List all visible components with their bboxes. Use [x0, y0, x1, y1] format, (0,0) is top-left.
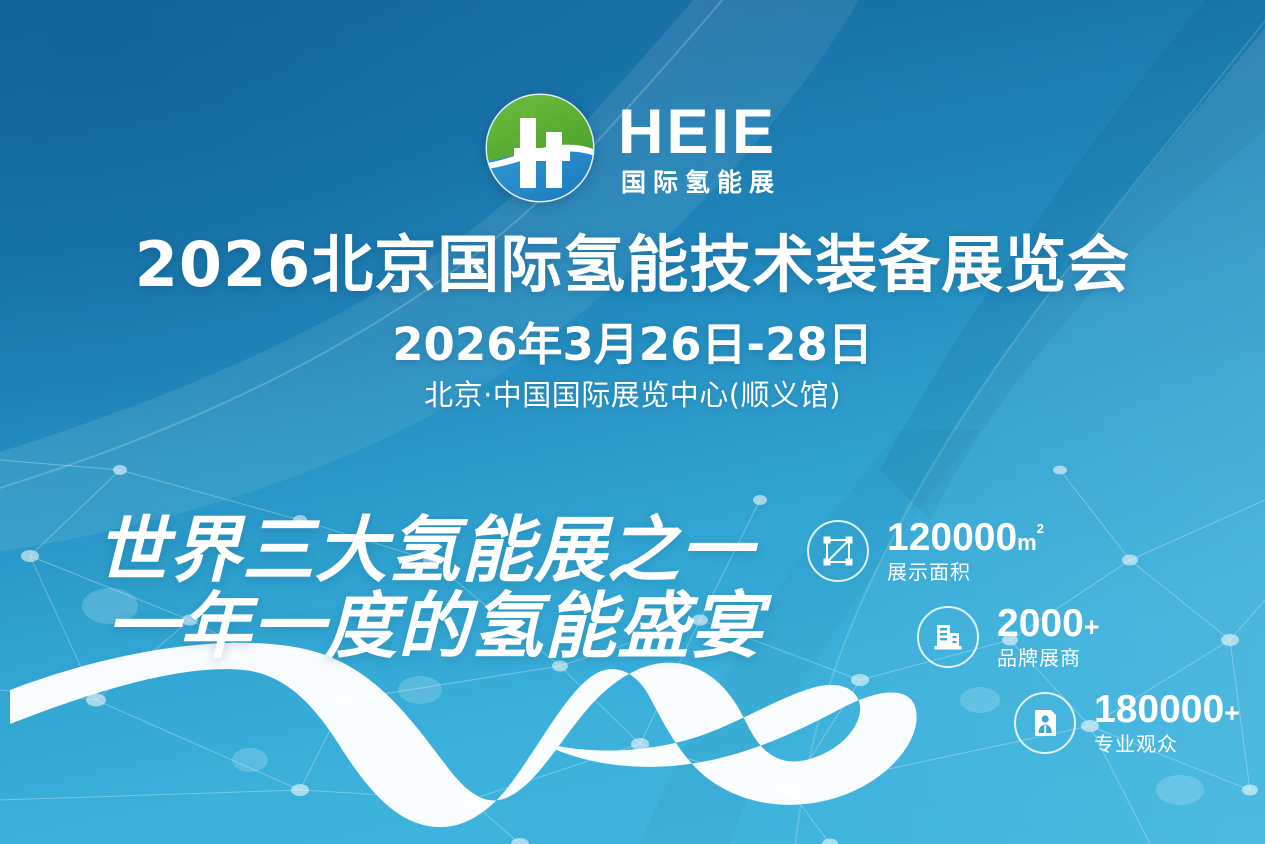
stat-value-professional-visitors: 180000+ [1094, 690, 1240, 729]
stat-text-brand-exhibitors: 2000+ 品牌展商 [997, 604, 1100, 670]
stat-value-brand-exhibitors: 2000+ [997, 604, 1100, 643]
stat-label-professional-visitors: 专业观众 [1094, 733, 1240, 756]
stats-group: 120000m2 展示面积 [807, 518, 1227, 776]
slogan-line-2: 一年一度的氢能盛宴 [96, 588, 776, 664]
slogan-block: 世界三大氢能展之一 一年一度的氢能盛宴 [96, 512, 776, 665]
page-title: 2026北京国际氢能技术装备展览会 [0, 232, 1265, 299]
brand-wordmark: HEIE [618, 102, 777, 164]
poster-canvas: HEIE 国际氢能展 2026北京国际氢能技术装备展览会 2026年3月26日-… [0, 0, 1265, 844]
event-date: 2026年3月26日-28日 [0, 320, 1265, 370]
headline-block: 2026北京国际氢能技术装备展览会 2026年3月26日-28日 北京·中国国际… [0, 232, 1265, 413]
stat-item-exhibition-area: 120000m2 展示面积 [807, 518, 1227, 584]
stat-value-exhibition-area: 120000m2 [887, 518, 1044, 557]
stat-label-brand-exhibitors: 品牌展商 [997, 647, 1100, 670]
visitor-badge-icon [1014, 692, 1076, 754]
stat-text-professional-visitors: 180000+ 专业观众 [1094, 690, 1240, 756]
building-icon [917, 606, 979, 668]
heie-circle-h-logo-icon [484, 92, 596, 204]
stat-text-exhibition-area: 120000m2 展示面积 [887, 518, 1044, 584]
slogan-line-1: 世界三大氢能展之一 [96, 512, 776, 588]
event-venue: 北京·中国国际展览中心(顺义馆) [0, 378, 1265, 413]
stat-label-exhibition-area: 展示面积 [887, 561, 1044, 584]
brand-wordmark-subtitle: 国际氢能展 [614, 167, 781, 198]
stat-item-professional-visitors: 180000+ 专业观众 [807, 690, 1227, 756]
brand-wordmark-group: HEIE 国际氢能展 [614, 98, 781, 199]
area-measure-icon [807, 520, 869, 582]
brand-logo-lockup: HEIE 国际氢能展 [0, 92, 1265, 204]
stat-item-brand-exhibitors: 2000+ 品牌展商 [807, 604, 1227, 670]
